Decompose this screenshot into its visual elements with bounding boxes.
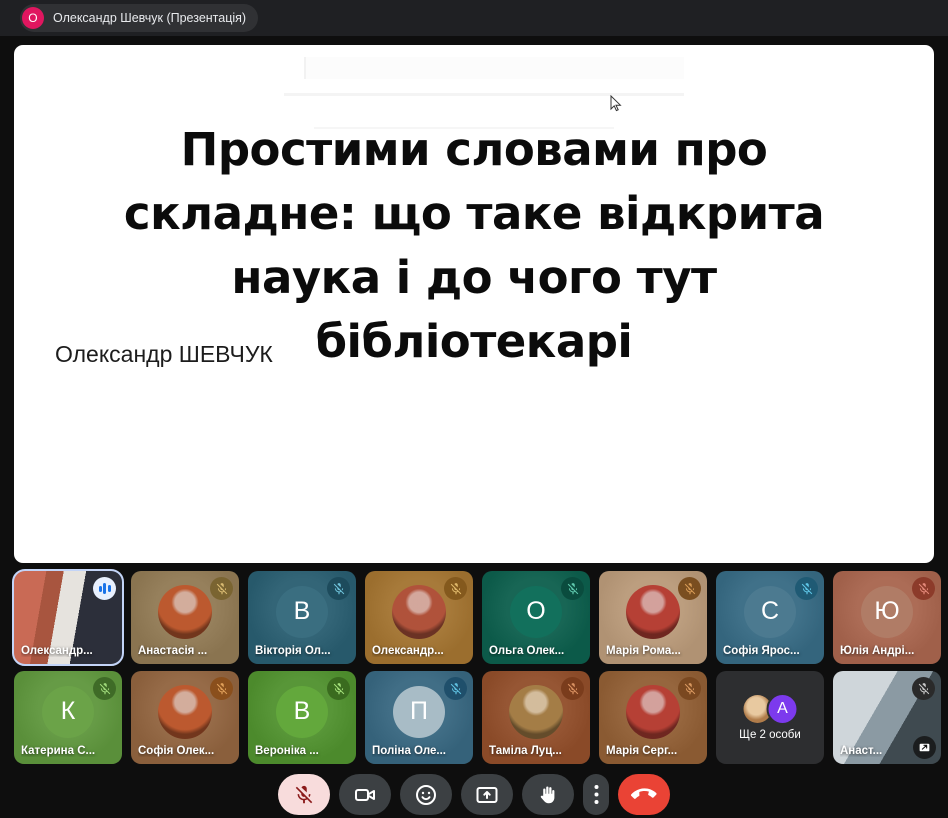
participant-tile[interactable]: ССофія Ярос... (716, 571, 824, 664)
mic-off-icon (795, 577, 818, 600)
mic-off-icon (561, 677, 584, 700)
mic-off-icon (210, 577, 233, 600)
microphone-muted-button[interactable] (278, 774, 330, 815)
mic-off-icon (327, 577, 350, 600)
participant-tile[interactable]: Таміла Луц... (482, 671, 590, 764)
mic-off-icon (327, 677, 350, 700)
participant-tile[interactable]: ЮЮлія Андрі... (833, 571, 941, 664)
mic-off-icon (678, 677, 701, 700)
end-call-button[interactable] (618, 774, 670, 815)
avatar: П (393, 686, 445, 738)
screen-share-icon (475, 783, 499, 807)
avatar: С (744, 586, 796, 638)
reactions-button[interactable] (400, 774, 452, 815)
participant-tile[interactable]: Софія Олек... (131, 671, 239, 764)
mic-off-icon (210, 677, 233, 700)
presenter-chip[interactable]: О Олександр Шевчук (Презентація) (20, 4, 258, 32)
mic-off-icon (444, 577, 467, 600)
participant-name: Марія Рома... (606, 645, 700, 657)
participant-tile[interactable]: Марія Серг... (599, 671, 707, 764)
avatar-photo (158, 685, 212, 739)
presenter-label: Олександр Шевчук (Презентація) (53, 11, 246, 25)
participant-tile[interactable]: Олександр... (365, 571, 473, 664)
avatar-photo (626, 685, 680, 739)
mic-off-icon (912, 677, 935, 700)
raised-hand-icon (536, 783, 560, 807)
present-screen-button[interactable] (461, 774, 513, 815)
slide-subtitle: Олександр ШЕВЧУК (55, 341, 273, 368)
mic-off-icon (293, 784, 315, 806)
participant-tile[interactable]: Анаст... (833, 671, 941, 764)
participant-row-1: Олександр...Анастасія ...ВВікторія Ол...… (14, 571, 941, 664)
overflow-avatars: А (742, 693, 799, 725)
avatar: К (42, 686, 94, 738)
presentation-stage[interactable]: Простими словами про складне: що таке ві… (14, 45, 934, 563)
participant-tile[interactable]: ООльга Олек... (482, 571, 590, 664)
mic-off-icon (444, 677, 467, 700)
avatar-photo (392, 585, 446, 639)
overflow-label: Ще 2 особи (716, 729, 824, 741)
participant-tile[interactable]: ППоліна Оле... (365, 671, 473, 764)
avatar: В (276, 586, 328, 638)
camera-button[interactable] (339, 774, 391, 815)
participant-name: Вероніка ... (255, 745, 349, 757)
mic-off-icon (912, 577, 935, 600)
participant-name: Софія Олек... (138, 745, 232, 757)
mic-off-icon (678, 577, 701, 600)
slide-title: Простими словами про складне: що таке ві… (74, 118, 874, 374)
avatar-photo (626, 585, 680, 639)
raise-hand-button[interactable] (522, 774, 574, 815)
slide-artifact (284, 93, 684, 96)
avatar-photo (158, 585, 212, 639)
participant-name: Марія Серг... (606, 745, 700, 757)
participant-name: Анаст... (840, 745, 934, 757)
participant-name: Вікторія Ол... (255, 645, 349, 657)
more-options-button[interactable] (583, 774, 609, 815)
mic-off-icon (561, 577, 584, 600)
participant-name: Олександр... (372, 645, 466, 657)
participant-name: Софія Ярос... (723, 645, 817, 657)
emoji-smile-icon (414, 783, 438, 807)
participant-row-2: ККатерина С...Софія Олек...ВВероніка ...… (14, 671, 941, 764)
mouse-cursor-icon (610, 95, 622, 113)
participant-name: Ольга Олек... (489, 645, 583, 657)
participant-name: Поліна Оле... (372, 745, 466, 757)
participant-filmstrip: Олександр...Анастасія ...ВВікторія Ол...… (14, 571, 941, 771)
kebab-menu-icon (594, 784, 599, 805)
video-camera-icon (353, 783, 377, 807)
participant-name: Анастасія ... (138, 645, 232, 657)
participant-name: Олександр... (21, 645, 115, 657)
meeting-toolbar (0, 771, 948, 818)
participant-name: Катерина С... (21, 745, 115, 757)
participant-tile[interactable]: Марія Рома... (599, 571, 707, 664)
avatar: А (767, 693, 799, 725)
participant-tile[interactable]: Анастасія ... (131, 571, 239, 664)
participant-name: Таміла Луц... (489, 745, 583, 757)
participant-tile[interactable]: ВВероніка ... (248, 671, 356, 764)
avatar: В (276, 686, 328, 738)
slide-artifact (304, 57, 684, 79)
participant-tile[interactable]: Олександр... (14, 571, 122, 664)
waveform-icon (93, 577, 116, 600)
avatar: О (510, 586, 562, 638)
avatar: Ю (861, 586, 913, 638)
overflow-participants-tile[interactable]: АЩе 2 особи (716, 671, 824, 764)
phone-hangup-icon (631, 782, 657, 808)
participant-name: Юлія Андрі... (840, 645, 934, 657)
top-bar: О Олександр Шевчук (Презентація) (0, 0, 948, 36)
avatar-photo (509, 685, 563, 739)
participant-tile[interactable]: ККатерина С... (14, 671, 122, 764)
mic-off-icon (93, 677, 116, 700)
presenter-avatar: О (22, 7, 44, 29)
participant-tile[interactable]: ВВікторія Ол... (248, 571, 356, 664)
